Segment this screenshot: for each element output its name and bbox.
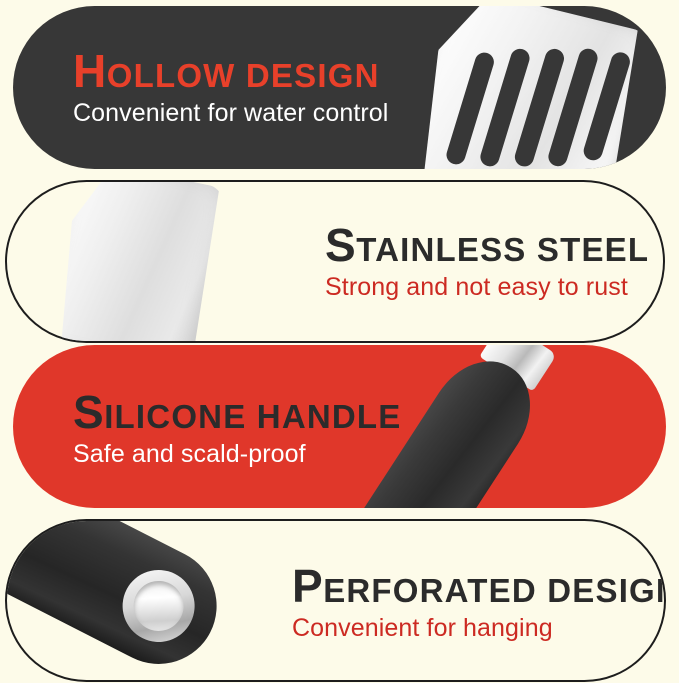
feature-headline: PERFORATED DESIGN <box>292 563 666 609</box>
solid-spatula-blade-image <box>40 180 234 343</box>
feature-panel-perforated-design: PERFORATED DESIGN Convenient for hanging <box>5 519 666 682</box>
spatula-blade-shape <box>40 180 234 343</box>
feature-subline: Convenient for water control <box>73 100 388 128</box>
feature-subline: Safe and scald-proof <box>73 441 402 469</box>
feature-text-stainless-steel: STAINLESS STEEL Strong and not easy to r… <box>325 222 649 302</box>
product-feature-infographic: HOLLOW DESIGN Convenient for water contr… <box>0 0 679 683</box>
feature-text-hollow-design: HOLLOW DESIGN Convenient for water contr… <box>73 48 388 128</box>
feature-subline: Convenient for hanging <box>292 615 666 643</box>
feature-subline: Strong and not easy to rust <box>325 274 649 302</box>
feature-headline: HOLLOW DESIGN <box>73 48 388 94</box>
feature-headline: STAINLESS STEEL <box>325 222 649 268</box>
feature-panel-silicone-handle: SILICONE HANDLE Safe and scald-proof <box>13 345 666 508</box>
feature-panel-stainless-steel: STAINLESS STEEL Strong and not easy to r… <box>5 180 665 343</box>
handle-end-with-hanging-hole-image <box>5 519 237 682</box>
feature-panel-hollow-design: HOLLOW DESIGN Convenient for water contr… <box>13 6 666 169</box>
handle-grip <box>5 519 237 682</box>
feature-text-perforated-design: PERFORATED DESIGN Convenient for hanging <box>292 563 666 643</box>
slotted-spatula-head-image <box>398 6 662 169</box>
hanging-hole-aperture <box>125 572 192 639</box>
feature-headline: SILICONE HANDLE <box>73 389 402 435</box>
feature-text-silicone-handle: SILICONE HANDLE Safe and scald-proof <box>73 389 402 469</box>
